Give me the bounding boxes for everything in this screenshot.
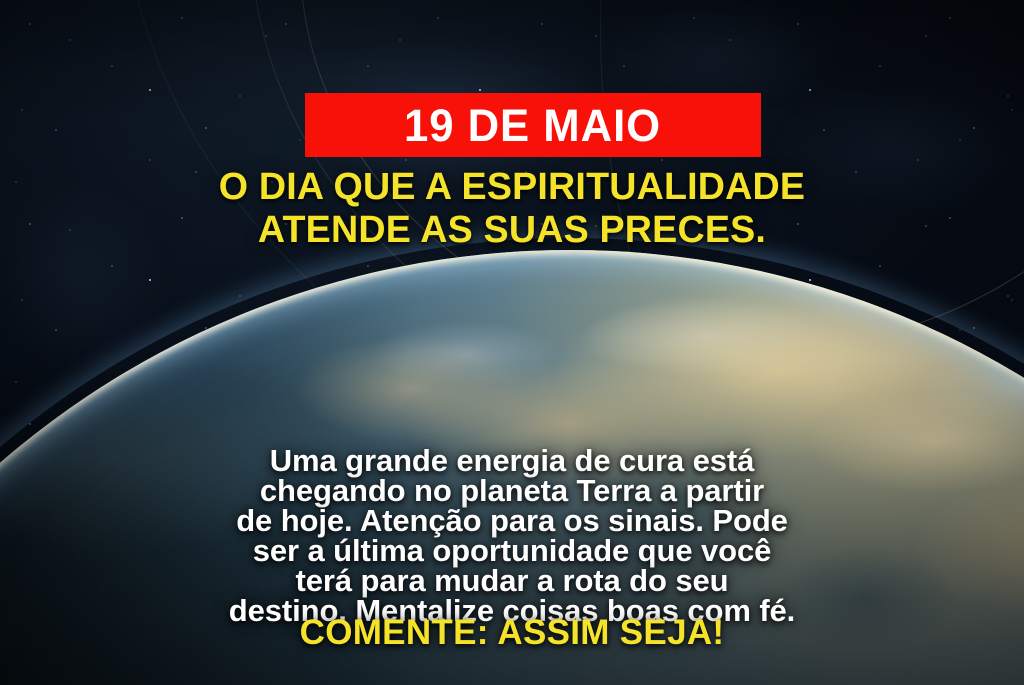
headline-line-1: O DIA QUE A ESPIRITUALIDADE <box>5 166 1019 209</box>
body-line-5: terá para mudar a rota do seu <box>0 566 1024 596</box>
call-to-action-text: COMENTE: ASSIM SEJA! <box>0 613 1024 653</box>
inspirational-poster: 19 DE MAIO O DIA QUE A ESPIRITUALIDADE A… <box>0 0 1024 685</box>
date-banner-label: 19 DE MAIO <box>404 103 661 148</box>
headline-line-2: ATENDE AS SUAS PRECES. <box>5 209 1019 252</box>
body-line-4: ser a última oportunidade que você <box>0 536 1024 566</box>
body-line-3: de hoje. Atenção para os sinais. Pode <box>0 506 1024 536</box>
date-banner: 19 DE MAIO <box>305 93 761 157</box>
body-line-1: Uma grande energia de cura está <box>0 446 1024 476</box>
poster-content: 19 DE MAIO O DIA QUE A ESPIRITUALIDADE A… <box>0 0 1024 685</box>
body-paragraph: Uma grande energia de cura está chegando… <box>0 446 1024 626</box>
headline: O DIA QUE A ESPIRITUALIDADE ATENDE AS SU… <box>0 166 1024 252</box>
body-line-2: chegando no planeta Terra a partir <box>0 476 1024 506</box>
